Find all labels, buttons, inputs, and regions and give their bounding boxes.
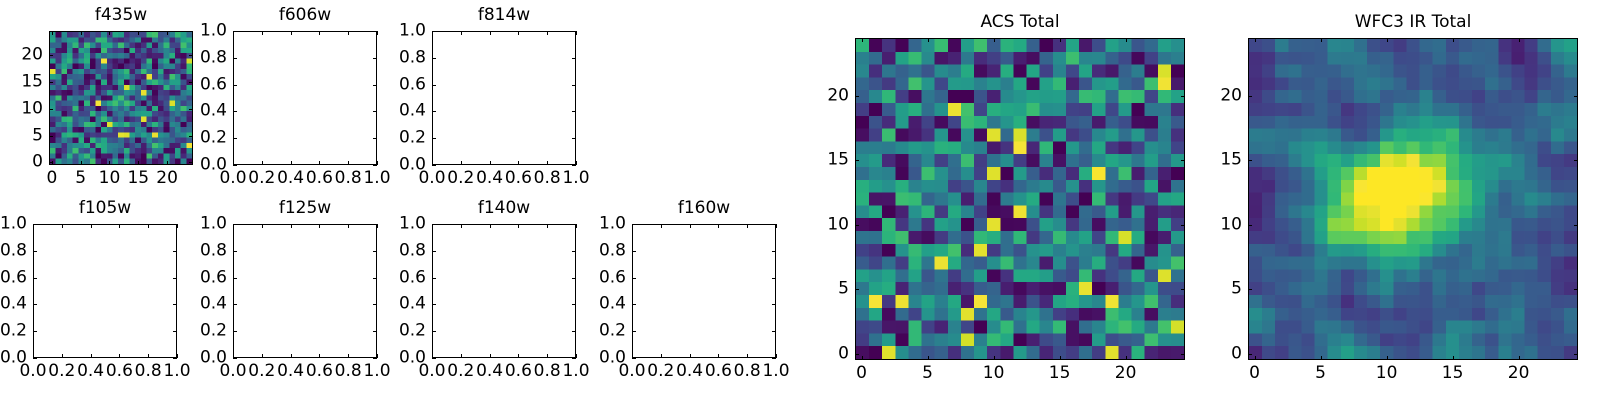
y-tick-mark [572, 251, 576, 252]
plot-area-f435w[interactable] [49, 31, 193, 165]
x-tick-mark [547, 161, 548, 165]
x-tick-mark [377, 354, 378, 358]
y-tick-label: 10 [1220, 216, 1242, 233]
panel-title: f160w [632, 200, 776, 217]
y-tick-mark [772, 278, 776, 279]
y-tick-mark [189, 136, 193, 137]
x-tick-mark [862, 356, 863, 360]
plot-area-acs_total[interactable] [855, 38, 1185, 360]
x-tick-mark [518, 224, 519, 228]
x-tick-mark [1387, 356, 1388, 360]
y-tick-label: 1.0 [399, 23, 426, 40]
x-tick-mark [490, 354, 491, 358]
y-tick-mark [173, 358, 177, 359]
y-tick-mark [432, 111, 436, 112]
y-tick-mark [233, 331, 237, 332]
y-tick-mark [1248, 160, 1252, 161]
x-tick-mark [319, 354, 320, 358]
x-tick-label: 0.8 [734, 363, 761, 380]
y-tick-mark [432, 224, 436, 225]
y-tick-mark [572, 31, 576, 32]
y-tick-mark [432, 138, 436, 139]
x-tick-label: 0.8 [135, 363, 162, 380]
x-tick-label: 15 [1442, 365, 1464, 382]
panel-title: f125w [233, 200, 377, 217]
x-tick-mark [518, 161, 519, 165]
y-tick-mark [855, 160, 859, 161]
x-tick-mark [690, 224, 691, 228]
y-tick-label: 0.4 [599, 296, 626, 313]
y-tick-mark [373, 251, 377, 252]
y-tick-mark [49, 109, 53, 110]
y-tick-mark [233, 358, 237, 359]
y-tick-label: 0.6 [200, 76, 227, 93]
x-tick-label: 0.4 [277, 170, 304, 187]
y-tick-label: 0.0 [399, 350, 426, 367]
x-tick-mark [377, 224, 378, 228]
x-tick-mark [1387, 38, 1388, 42]
x-tick-mark [776, 354, 777, 358]
panel-title: f814w [432, 7, 576, 24]
x-tick-mark [776, 224, 777, 228]
y-tick-label: 0 [32, 154, 43, 171]
x-tick-mark [1126, 356, 1127, 360]
y-tick-mark [772, 224, 776, 225]
x-tick-mark [319, 224, 320, 228]
y-tick-mark [373, 58, 377, 59]
x-tick-mark [348, 354, 349, 358]
x-tick-mark [747, 354, 748, 358]
y-tick-mark [1181, 225, 1185, 226]
y-tick-label: 1.0 [599, 216, 626, 233]
x-tick-mark [1255, 356, 1256, 360]
x-tick-label: 0.4 [476, 170, 503, 187]
y-tick-mark [173, 278, 177, 279]
y-tick-mark [432, 58, 436, 59]
y-tick-mark [855, 289, 859, 290]
x-tick-label: 10 [983, 365, 1005, 382]
x-tick-mark [291, 224, 292, 228]
panel-title: f606w [233, 7, 377, 24]
x-tick-mark [91, 354, 92, 358]
x-tick-mark [661, 354, 662, 358]
y-tick-mark [173, 304, 177, 305]
y-tick-mark [772, 304, 776, 305]
y-tick-label: 20 [827, 87, 849, 104]
y-tick-mark [432, 331, 436, 332]
x-tick-label: 1.0 [363, 363, 390, 380]
x-tick-mark [576, 161, 577, 165]
y-tick-mark [233, 85, 237, 86]
y-tick-label: 0.8 [200, 49, 227, 66]
y-tick-mark [1248, 289, 1252, 290]
y-tick-mark [373, 111, 377, 112]
y-tick-label: 0.8 [200, 242, 227, 259]
y-tick-mark [432, 165, 436, 166]
x-tick-label: 0.8 [335, 170, 362, 187]
x-tick-label: 5 [75, 170, 86, 187]
y-tick-mark [1248, 354, 1252, 355]
y-tick-label: 1.0 [0, 216, 27, 233]
y-tick-mark [33, 224, 37, 225]
x-tick-mark [119, 354, 120, 358]
x-tick-label: 0.6 [505, 170, 532, 187]
x-tick-mark [52, 31, 53, 35]
x-tick-mark [291, 354, 292, 358]
y-tick-label: 0.2 [399, 130, 426, 147]
y-tick-mark [233, 304, 237, 305]
y-tick-mark [373, 31, 377, 32]
x-tick-label: 10 [1376, 365, 1398, 382]
x-tick-mark [291, 161, 292, 165]
x-tick-mark [518, 354, 519, 358]
x-tick-mark [1060, 38, 1061, 42]
x-tick-mark [1255, 38, 1256, 42]
y-tick-label: 15 [1220, 152, 1242, 169]
x-tick-label: 0.6 [306, 363, 333, 380]
plot-area-f606w[interactable] [233, 31, 377, 165]
x-tick-label: 0 [46, 170, 57, 187]
y-tick-label: 1.0 [200, 23, 227, 40]
x-tick-mark [490, 161, 491, 165]
x-tick-label: 1.0 [562, 363, 589, 380]
x-tick-mark [576, 31, 577, 35]
x-tick-mark [1126, 38, 1127, 42]
x-tick-mark [461, 161, 462, 165]
plot-area-wfc3_ir_total[interactable] [1248, 38, 1578, 360]
y-tick-label: 5 [838, 281, 849, 298]
y-tick-mark [855, 354, 859, 355]
heatmap-image-acs_total [856, 39, 1184, 359]
y-tick-mark [572, 85, 576, 86]
y-tick-mark [1181, 354, 1185, 355]
panel-title: f140w [432, 200, 576, 217]
x-tick-mark [262, 161, 263, 165]
y-tick-mark [373, 85, 377, 86]
x-tick-mark [377, 31, 378, 35]
y-tick-label: 0.0 [599, 350, 626, 367]
y-tick-mark [572, 358, 576, 359]
x-tick-mark [747, 224, 748, 228]
x-tick-mark [262, 354, 263, 358]
y-tick-label: 0.6 [399, 76, 426, 93]
plot-area-f160w[interactable] [632, 224, 776, 358]
y-tick-label: 0.2 [0, 323, 27, 340]
y-tick-mark [233, 278, 237, 279]
y-tick-label: 0.4 [0, 296, 27, 313]
x-tick-mark [167, 161, 168, 165]
x-tick-label: 5 [1315, 365, 1326, 382]
y-tick-mark [189, 55, 193, 56]
x-tick-mark [576, 354, 577, 358]
x-tick-label: 1.0 [562, 170, 589, 187]
y-tick-mark [1574, 96, 1578, 97]
plot-area-f125w[interactable] [233, 224, 377, 358]
x-tick-mark [177, 224, 178, 228]
x-tick-label: 0.2 [248, 363, 275, 380]
y-tick-mark [432, 358, 436, 359]
y-tick-label: 0.2 [200, 130, 227, 147]
y-tick-label: 5 [32, 127, 43, 144]
x-tick-label: 0.2 [647, 363, 674, 380]
y-tick-label: 20 [1220, 87, 1242, 104]
x-tick-mark [148, 224, 149, 228]
y-tick-mark [233, 224, 237, 225]
y-tick-mark [189, 162, 193, 163]
y-tick-label: 0.0 [0, 350, 27, 367]
x-tick-mark [461, 354, 462, 358]
y-tick-label: 0.6 [399, 269, 426, 286]
y-tick-mark [233, 165, 237, 166]
y-tick-label: 0.6 [599, 269, 626, 286]
x-tick-mark [862, 38, 863, 42]
x-tick-mark [91, 224, 92, 228]
y-tick-label: 10 [827, 216, 849, 233]
y-tick-mark [772, 358, 776, 359]
x-tick-mark [109, 161, 110, 165]
x-tick-mark [461, 224, 462, 228]
y-tick-label: 0.4 [200, 103, 227, 120]
y-tick-mark [855, 225, 859, 226]
y-tick-mark [233, 58, 237, 59]
y-tick-label: 10 [21, 100, 43, 117]
y-tick-mark [1574, 289, 1578, 290]
x-tick-mark [1453, 38, 1454, 42]
x-tick-mark [291, 31, 292, 35]
y-tick-mark [373, 358, 377, 359]
x-tick-label: 15 [127, 170, 149, 187]
x-tick-mark [718, 354, 719, 358]
y-tick-mark [49, 136, 53, 137]
y-tick-mark [173, 224, 177, 225]
y-tick-label: 15 [21, 73, 43, 90]
y-tick-mark [632, 224, 636, 225]
y-tick-mark [33, 304, 37, 305]
y-tick-label: 0.4 [399, 296, 426, 313]
y-tick-mark [189, 109, 193, 110]
x-tick-mark [377, 161, 378, 165]
x-tick-label: 0.2 [447, 170, 474, 187]
y-tick-label: 0.0 [399, 157, 426, 174]
y-tick-mark [572, 278, 576, 279]
x-tick-label: 0.6 [306, 170, 333, 187]
x-tick-mark [547, 224, 548, 228]
y-tick-label: 1.0 [399, 216, 426, 233]
x-tick-mark [1321, 38, 1322, 42]
y-tick-mark [173, 251, 177, 252]
y-tick-mark [1181, 96, 1185, 97]
y-tick-mark [572, 58, 576, 59]
y-tick-mark [632, 278, 636, 279]
x-tick-mark [928, 38, 929, 42]
y-tick-mark [572, 138, 576, 139]
y-tick-mark [189, 82, 193, 83]
x-tick-mark [661, 224, 662, 228]
x-tick-mark [81, 161, 82, 165]
y-tick-mark [572, 111, 576, 112]
x-tick-label: 0.4 [77, 363, 104, 380]
y-tick-mark [33, 358, 37, 359]
x-tick-mark [928, 356, 929, 360]
x-tick-mark [1519, 356, 1520, 360]
y-tick-label: 0 [838, 345, 849, 362]
y-tick-label: 15 [827, 152, 849, 169]
y-tick-label: 0.2 [200, 323, 227, 340]
y-tick-label: 0.6 [0, 269, 27, 286]
y-tick-mark [432, 251, 436, 252]
x-tick-label: 0 [856, 365, 867, 382]
x-tick-mark [177, 354, 178, 358]
y-tick-mark [1574, 354, 1578, 355]
y-tick-mark [1248, 96, 1252, 97]
heatmap-image-f435w [50, 32, 192, 164]
x-tick-mark [348, 161, 349, 165]
y-tick-mark [432, 31, 436, 32]
x-tick-mark [1453, 356, 1454, 360]
y-tick-mark [33, 278, 37, 279]
x-tick-mark [167, 31, 168, 35]
y-tick-label: 0.8 [399, 49, 426, 66]
y-tick-label: 0.0 [200, 157, 227, 174]
y-tick-mark [572, 224, 576, 225]
x-tick-mark [148, 354, 149, 358]
x-tick-mark [518, 31, 519, 35]
heatmap-image-wfc3_ir_total [1249, 39, 1577, 359]
y-tick-mark [1574, 160, 1578, 161]
x-tick-label: 0.4 [476, 363, 503, 380]
x-tick-mark [81, 31, 82, 35]
x-tick-label: 1.0 [163, 363, 190, 380]
y-tick-label: 0.4 [399, 103, 426, 120]
x-tick-mark [262, 224, 263, 228]
y-tick-label: 0.8 [599, 242, 626, 259]
x-tick-mark [62, 354, 63, 358]
y-tick-label: 0.0 [200, 350, 227, 367]
y-tick-mark [33, 331, 37, 332]
y-tick-mark [373, 224, 377, 225]
x-tick-label: 0.8 [534, 363, 561, 380]
y-tick-mark [632, 358, 636, 359]
y-tick-label: 0.2 [399, 323, 426, 340]
y-tick-label: 0.2 [599, 323, 626, 340]
x-tick-mark [1060, 356, 1061, 360]
y-tick-mark [632, 251, 636, 252]
x-tick-label: 0 [1249, 365, 1260, 382]
y-tick-mark [572, 165, 576, 166]
x-tick-mark [994, 356, 995, 360]
x-tick-mark [319, 161, 320, 165]
y-tick-mark [632, 331, 636, 332]
x-tick-mark [138, 31, 139, 35]
x-tick-label: 0.4 [676, 363, 703, 380]
y-tick-mark [49, 82, 53, 83]
panel-title: f435w [49, 7, 193, 24]
x-tick-label: 20 [1115, 365, 1137, 382]
y-tick-mark [233, 251, 237, 252]
y-tick-mark [373, 331, 377, 332]
y-tick-mark [432, 304, 436, 305]
x-tick-label: 0.6 [705, 363, 732, 380]
y-tick-mark [572, 331, 576, 332]
x-tick-mark [348, 224, 349, 228]
y-tick-mark [33, 251, 37, 252]
x-tick-label: 0.6 [505, 363, 532, 380]
x-tick-mark [138, 161, 139, 165]
x-tick-mark [319, 31, 320, 35]
y-tick-mark [373, 165, 377, 166]
x-tick-mark [490, 224, 491, 228]
y-tick-mark [772, 251, 776, 252]
x-tick-label: 0.4 [277, 363, 304, 380]
x-tick-label: 0.2 [248, 170, 275, 187]
x-tick-label: 20 [156, 170, 178, 187]
x-tick-mark [547, 354, 548, 358]
x-tick-mark [348, 31, 349, 35]
y-tick-mark [1248, 225, 1252, 226]
panel-title: WFC3 IR Total [1248, 14, 1578, 31]
y-tick-mark [373, 278, 377, 279]
x-tick-label: 5 [922, 365, 933, 382]
y-tick-mark [173, 331, 177, 332]
y-tick-mark [432, 85, 436, 86]
y-tick-mark [432, 278, 436, 279]
y-tick-label: 0.8 [0, 242, 27, 259]
x-tick-mark [994, 38, 995, 42]
y-tick-mark [373, 304, 377, 305]
x-tick-label: 10 [99, 170, 121, 187]
y-tick-mark [632, 304, 636, 305]
x-tick-mark [119, 224, 120, 228]
y-tick-mark [1574, 225, 1578, 226]
plot-area-f814w[interactable] [432, 31, 576, 165]
y-tick-label: 0.6 [200, 269, 227, 286]
y-tick-label: 1.0 [200, 216, 227, 233]
panel-title: ACS Total [855, 14, 1185, 31]
y-tick-mark [49, 55, 53, 56]
y-tick-label: 0.4 [200, 296, 227, 313]
x-tick-label: 0.6 [106, 363, 133, 380]
x-tick-label: 1.0 [762, 363, 789, 380]
x-tick-mark [461, 31, 462, 35]
x-tick-mark [490, 31, 491, 35]
x-tick-mark [1321, 356, 1322, 360]
x-tick-mark [109, 31, 110, 35]
x-tick-mark [262, 31, 263, 35]
panel-title: f105w [33, 200, 177, 217]
y-tick-mark [373, 138, 377, 139]
y-tick-label: 0 [1231, 345, 1242, 362]
y-tick-mark [572, 304, 576, 305]
y-tick-mark [49, 162, 53, 163]
y-tick-mark [855, 96, 859, 97]
x-tick-label: 0.8 [534, 170, 561, 187]
y-tick-mark [1181, 289, 1185, 290]
x-tick-label: 1.0 [363, 170, 390, 187]
x-tick-label: 20 [1508, 365, 1530, 382]
x-tick-label: 0.8 [335, 363, 362, 380]
x-tick-label: 15 [1049, 365, 1071, 382]
plot-area-f140w[interactable] [432, 224, 576, 358]
plot-area-f105w[interactable] [33, 224, 177, 358]
y-tick-label: 5 [1231, 281, 1242, 298]
x-tick-mark [547, 31, 548, 35]
y-tick-mark [233, 138, 237, 139]
y-tick-mark [233, 111, 237, 112]
x-tick-mark [1519, 38, 1520, 42]
figure-canvas: f435w0510152005101520f606w0.00.20.40.60.… [0, 0, 1600, 400]
y-tick-label: 0.8 [399, 242, 426, 259]
x-tick-label: 0.2 [447, 363, 474, 380]
